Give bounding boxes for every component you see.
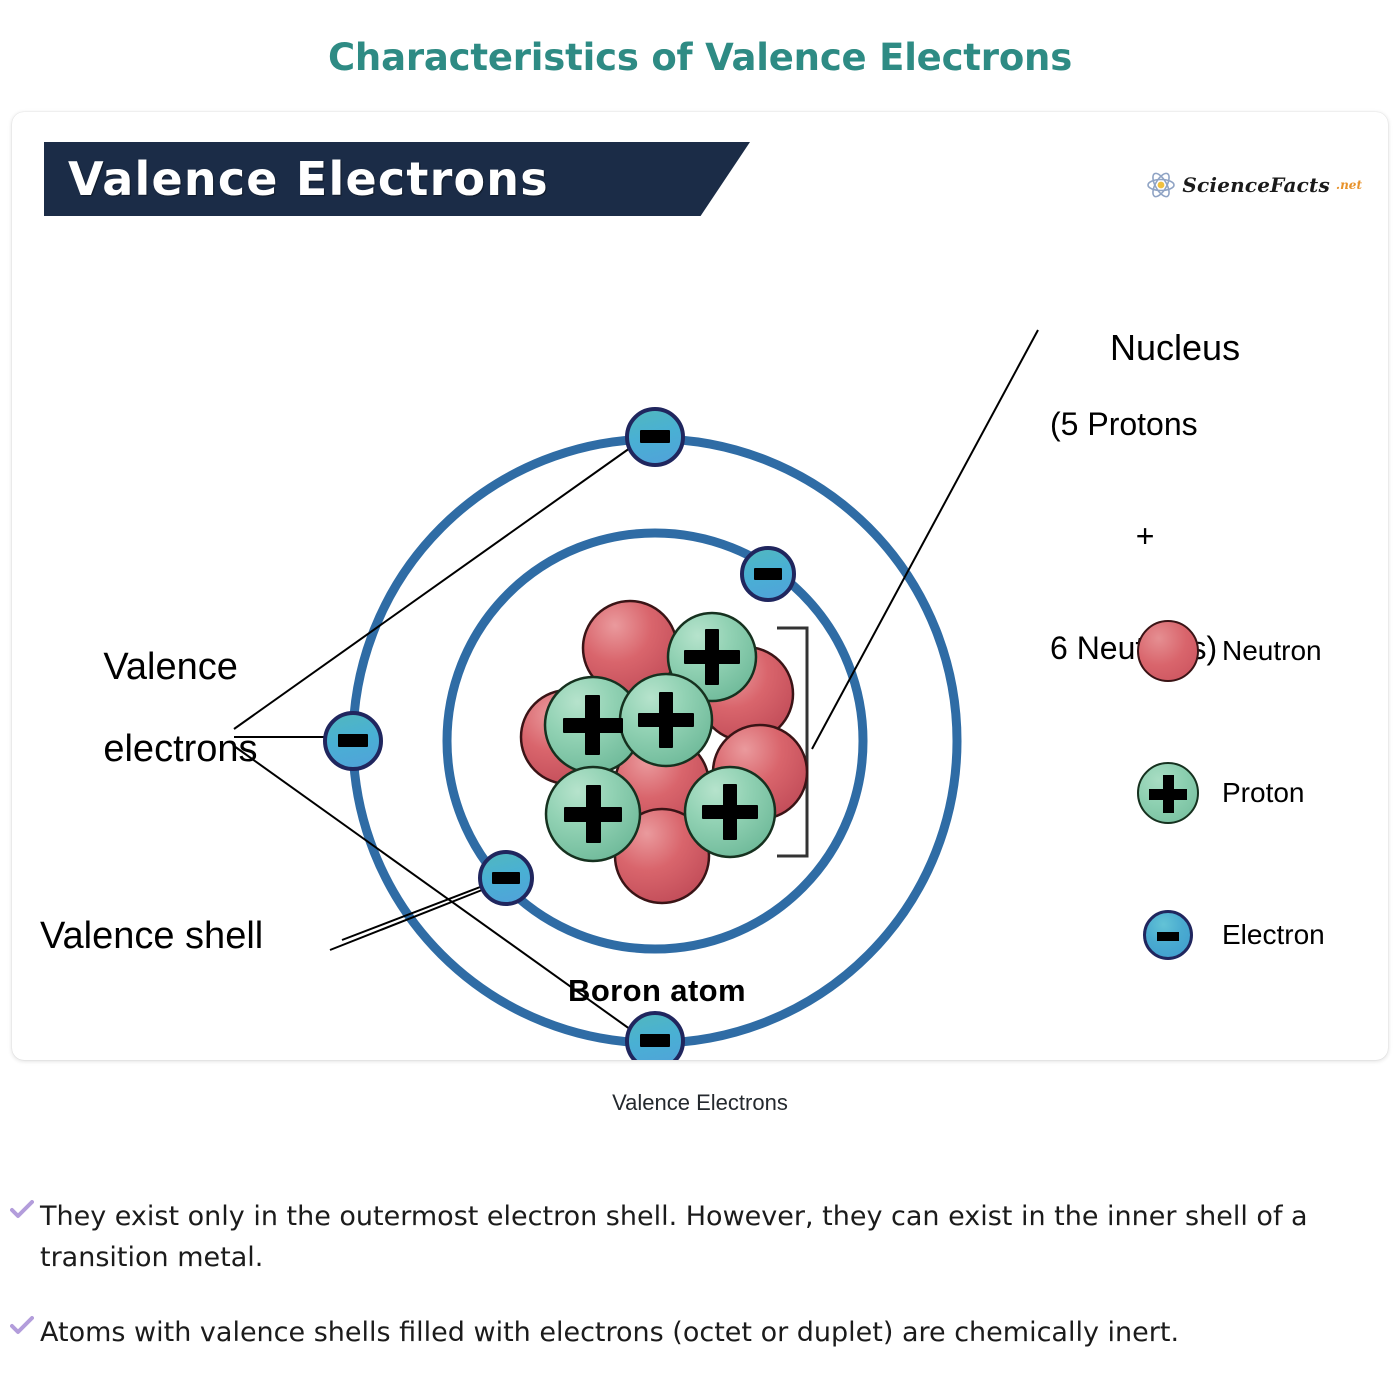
- legend-label-neutron: Neutron: [1222, 635, 1322, 667]
- label-valence-electrons: Valence electrons: [40, 606, 258, 811]
- leader-line-nucleus: [812, 330, 1038, 749]
- electron-inner-lower-left: [480, 852, 532, 904]
- electron-valence-left: [325, 713, 381, 769]
- facts-list: They exist only in the outermost electro…: [10, 1196, 1390, 1387]
- list-item: Atoms with valence shells filled with el…: [10, 1312, 1390, 1353]
- electron-inner-upper-right: [742, 548, 794, 600]
- legend-label-proton: Proton: [1222, 777, 1305, 809]
- label-nucleus-title: Nucleus: [1110, 327, 1240, 368]
- legend-item-electron: Electron: [1128, 864, 1325, 1006]
- label-valence-shell: Valence shell: [40, 916, 263, 957]
- electron-valence-top: [627, 409, 683, 465]
- fact-text: They exist only in the outermost electro…: [40, 1196, 1390, 1278]
- label-valence-electrons-line2: electrons: [103, 728, 257, 770]
- electron-icon: [1128, 910, 1208, 960]
- legend-item-proton: Proton: [1128, 722, 1325, 864]
- label-nucleus-protons: (5 Protons: [1050, 407, 1240, 442]
- electron-valence-bottom: [627, 1013, 683, 1060]
- proton-icon: [1128, 762, 1208, 824]
- legend: Neutron Proton Electron: [1128, 580, 1325, 1006]
- legend-item-neutron: Neutron: [1128, 580, 1325, 722]
- check-icon: [10, 1316, 40, 1341]
- neutron-icon: [1128, 620, 1208, 682]
- page-root: Characteristics of Valence Electrons Val…: [0, 0, 1400, 1400]
- figure-card: Valence Electrons ScienceFacts .net: [12, 112, 1388, 1060]
- page-title: Characteristics of Valence Electrons: [0, 36, 1400, 79]
- legend-label-electron: Electron: [1222, 919, 1325, 951]
- fact-text: Atoms with valence shells filled with el…: [40, 1312, 1179, 1353]
- list-item: They exist only in the outermost electro…: [10, 1196, 1390, 1278]
- label-valence-electrons-line1: Valence: [103, 646, 238, 688]
- label-nucleus-plus: +: [1050, 519, 1240, 554]
- label-boron-atom: Boron atom: [12, 974, 1302, 1007]
- check-icon: [10, 1200, 40, 1225]
- figure-caption: Valence Electrons: [0, 1090, 1400, 1116]
